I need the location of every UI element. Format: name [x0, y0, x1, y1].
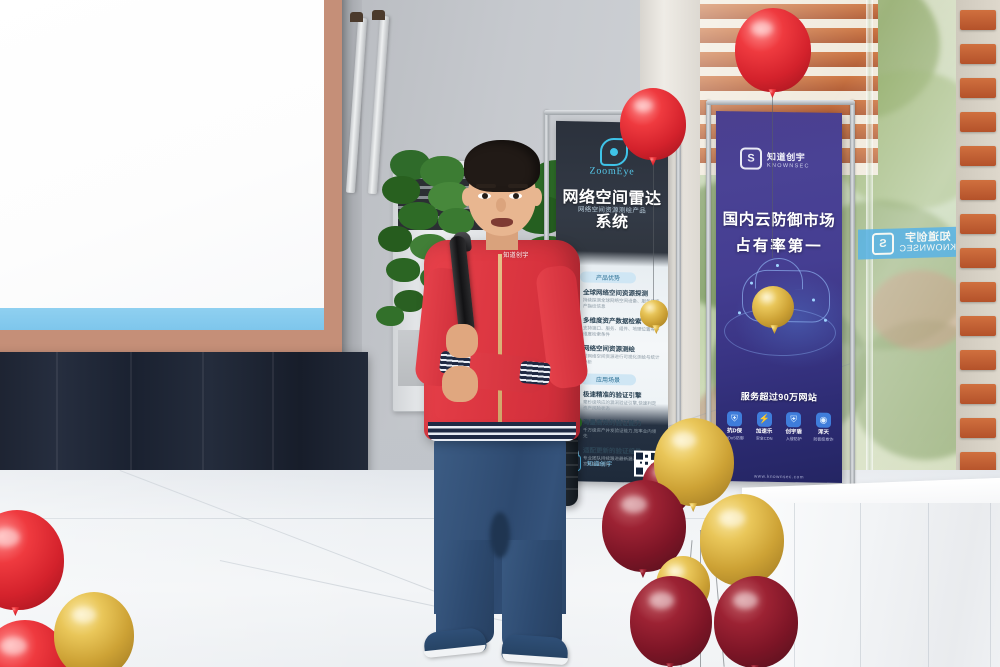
knownsec-brand-en: KNOWNSEC [767, 162, 810, 169]
ear-right [531, 188, 542, 206]
event-photo-scene: S 知道创宇 KNOWNSEC [0, 0, 1000, 667]
eyebrow-right [508, 184, 528, 188]
hand-upper [446, 324, 478, 358]
jeans-crotch-shadow [490, 512, 510, 558]
eye-left [478, 193, 491, 199]
balloon-darkred [714, 576, 798, 667]
gold-decor-ball [752, 286, 794, 328]
projection-screen [0, 0, 324, 330]
balloon-gold [700, 494, 784, 586]
brick-column [956, 0, 1000, 500]
eye-right [509, 193, 522, 199]
knownsec-mark-icon: S [740, 147, 762, 169]
balloon-string [772, 88, 773, 258]
balloon-red [0, 510, 64, 610]
glass-decal-text: 知道创宇 KNOWNSEC [899, 231, 956, 254]
knownsec-headline-line2: 占有率第一 [716, 233, 842, 257]
balloon-gold [54, 592, 134, 667]
leg-right [502, 540, 562, 650]
projection-screen-frame [0, 0, 342, 362]
nose [496, 198, 506, 212]
knownsec-glass-decal: S 知道创宇 KNOWNSEC [858, 226, 970, 259]
balloon-darkred [630, 576, 712, 666]
jacket-hem [428, 422, 576, 441]
ear-left [462, 188, 473, 206]
knownsec-logo: S 知道创宇 KNOWNSEC [740, 147, 820, 170]
ladder-cap-left [350, 12, 363, 22]
jacket-zipper [498, 254, 502, 426]
gold-decor-ball-small [640, 300, 668, 328]
knownsec-brand-cn: 知道创宇 [767, 149, 810, 163]
knownsec-mark-icon: S [872, 233, 894, 256]
hand-lower [442, 366, 478, 402]
mouth [491, 218, 513, 227]
red-balloon-over-zoomeye [620, 88, 686, 160]
ladder-cap-right [372, 10, 385, 20]
projection-screen-accent-band [0, 308, 324, 330]
eyebrow-left [476, 184, 496, 188]
jacket-chest-logo: 知道创宇 [494, 250, 538, 259]
knownsec-headline-line1: 国内云防御市场 [716, 207, 842, 231]
knownsec-tagline: 服务超过90万网站 [716, 389, 842, 404]
glass-decal-en: KNOWNSEC [899, 242, 956, 254]
red-balloon-upper-right [735, 8, 811, 92]
balloon-cluster-center [590, 410, 820, 667]
cuff-right [519, 361, 551, 386]
balloon-cluster-left [0, 500, 170, 667]
event-speaker: 知道创宇 [398, 140, 598, 650]
